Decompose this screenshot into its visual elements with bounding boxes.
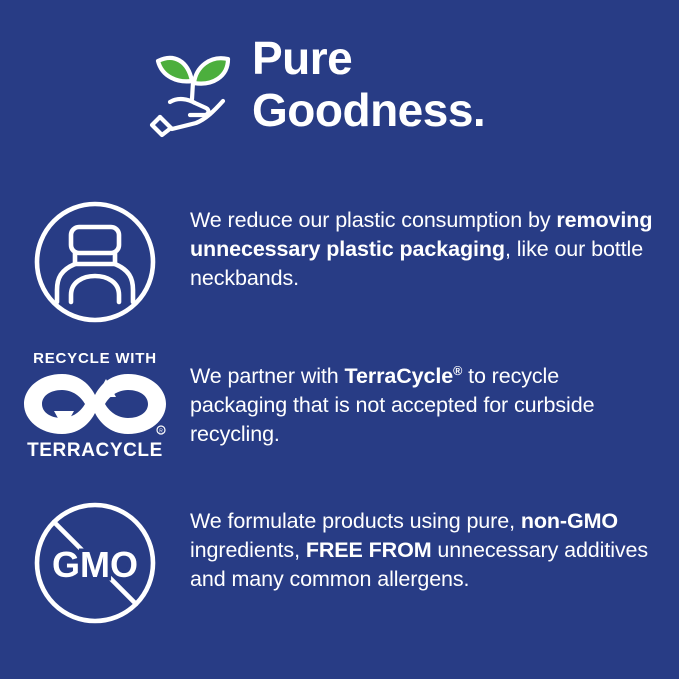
text-segment: We reduce our plastic consumption by (190, 208, 556, 232)
bottle-neckband-circle-icon (31, 198, 159, 331)
infinity-recycle-arrows-icon: R (21, 371, 169, 437)
terracycle-logo-icon: RECYCLE WITH R TERRACYCLE (21, 350, 169, 462)
claim-text-non-gmo: We formulate products using pure, non-GM… (190, 497, 679, 595)
icon-cell: RECYCLE WITH R TERRACYCLE (0, 348, 190, 462)
text-segment-bold: non-GMO (521, 509, 618, 533)
terracycle-brand-name: TerraCycle (345, 364, 454, 388)
no-gmo-circle-icon: GMO (31, 499, 159, 632)
registered-mark: ® (453, 364, 462, 378)
page-title: Pure Goodness. (252, 33, 485, 137)
gmo-label: GMO (52, 544, 138, 585)
claim-text-terracycle: We partner with TerraCycle® to recycle p… (190, 348, 679, 450)
icon-cell: GMO (0, 497, 190, 632)
claim-text-plastic-reduction: We reduce our plastic consumption by rem… (190, 196, 679, 294)
terracycle-bottom-label: TERRACYCLE (27, 440, 163, 462)
text-segment: We partner with (190, 364, 345, 388)
icon-cell (0, 196, 190, 331)
text-segment: We formulate products using pure, (190, 509, 521, 533)
claim-row-non-gmo: GMO We formulate products using pure, no… (0, 497, 679, 632)
text-segment-bold: FREE FROM (306, 538, 432, 562)
text-segment: ingredients, (190, 538, 306, 562)
header: Pure Goodness. (148, 33, 485, 139)
claim-row-terracycle: RECYCLE WITH R TERRACYCLE We p (0, 348, 679, 462)
svg-text:R: R (159, 429, 163, 435)
hand-holding-sprout-icon (148, 39, 242, 139)
pure-goodness-infographic: Pure Goodness. (0, 0, 679, 679)
terracycle-top-label: RECYCLE WITH (33, 350, 157, 367)
text-segment-bold: TerraCycle® (345, 364, 463, 388)
claim-row-plastic-reduction: We reduce our plastic consumption by rem… (0, 196, 679, 331)
